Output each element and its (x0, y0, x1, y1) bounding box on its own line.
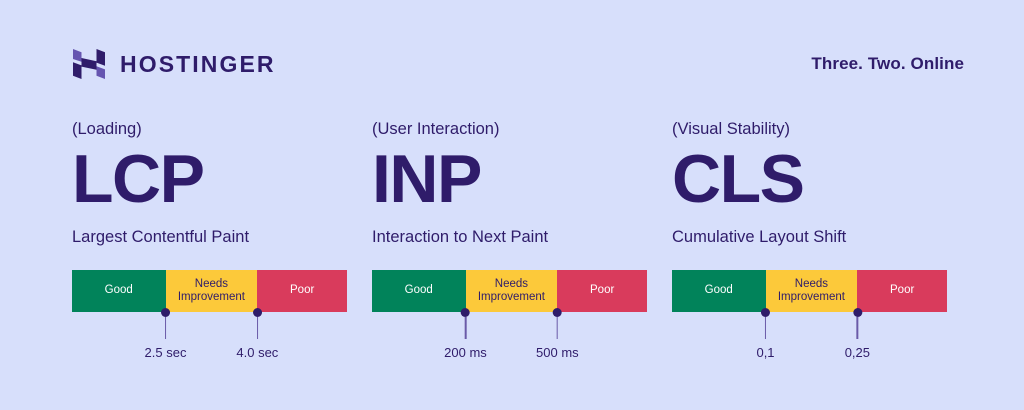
threshold-marker: 4.0 sec (236, 312, 278, 359)
threshold-marker: 500 ms (536, 312, 579, 359)
marker-dot-icon (161, 308, 170, 317)
marker-stem-icon (257, 317, 259, 339)
threshold-markers: 200 ms 500 ms (372, 312, 647, 372)
segment-needs-line1: Needs (795, 278, 828, 290)
marker-stem-icon (465, 317, 467, 339)
metric-fullname: Cumulative Layout Shift (672, 228, 972, 248)
threshold-bar: Good Needs Improvement Poor (372, 270, 647, 312)
segment-needs-line1: Needs (195, 278, 228, 290)
brand-lockup: HOSTINGER (72, 47, 276, 81)
threshold-marker: 0,1 (756, 312, 774, 359)
threshold-bar-wrapper: Good Needs Improvement Poor 200 ms (372, 270, 647, 312)
segment-needs-improvement: Needs Improvement (166, 270, 258, 312)
marker-label: 200 ms (444, 346, 487, 359)
metric-context: (User Interaction) (372, 120, 672, 142)
threshold-bar: Good Needs Improvement Poor (72, 270, 347, 312)
marker-stem-icon (165, 317, 167, 339)
segment-needs-line2: Improvement (778, 291, 845, 303)
segment-needs-line1: Needs (495, 278, 528, 290)
threshold-marker: 200 ms (444, 312, 487, 359)
marker-dot-icon (853, 308, 862, 317)
marker-dot-icon (461, 308, 470, 317)
marker-label: 0,25 (845, 346, 870, 359)
segment-good: Good (72, 270, 166, 312)
metric-card-inp: (User Interaction) INP Interaction to Ne… (372, 120, 672, 312)
tagline: Three. Two. Online (811, 54, 964, 74)
hostinger-h-logo-icon (72, 47, 106, 81)
segment-needs-improvement: Needs Improvement (766, 270, 858, 312)
segment-needs-improvement: Needs Improvement (466, 270, 558, 312)
segment-good: Good (672, 270, 766, 312)
page-header: HOSTINGER Three. Two. Online (72, 44, 964, 84)
threshold-markers: 2.5 sec 4.0 sec (72, 312, 347, 372)
marker-label: 0,1 (756, 346, 774, 359)
threshold-bar-wrapper: Good Needs Improvement Poor 0,1 (672, 270, 947, 312)
metric-context: (Visual Stability) (672, 120, 972, 142)
metric-acronym: CLS (672, 148, 972, 218)
marker-stem-icon (857, 317, 859, 339)
metrics-row: (Loading) LCP Largest Contentful Paint G… (72, 120, 972, 312)
marker-label: 500 ms (536, 346, 579, 359)
marker-label: 4.0 sec (236, 346, 278, 359)
marker-dot-icon (553, 308, 562, 317)
brand-name: HOSTINGER (120, 53, 276, 76)
metric-fullname: Largest Contentful Paint (72, 228, 372, 248)
segment-needs-line2: Improvement (478, 291, 545, 303)
segment-poor: Poor (557, 270, 647, 312)
metric-acronym: INP (372, 148, 672, 218)
threshold-marker: 2.5 sec (145, 312, 187, 359)
infographic-page: { "theme": { "background": "#d7dffb", "i… (0, 0, 1024, 410)
marker-stem-icon (765, 317, 767, 339)
metric-fullname: Interaction to Next Paint (372, 228, 672, 248)
marker-dot-icon (253, 308, 262, 317)
segment-poor: Poor (257, 270, 347, 312)
threshold-bar: Good Needs Improvement Poor (672, 270, 947, 312)
segment-poor: Poor (857, 270, 947, 312)
threshold-bar-wrapper: Good Needs Improvement Poor 2.5 sec (72, 270, 347, 312)
metric-context: (Loading) (72, 120, 372, 142)
threshold-marker: 0,25 (845, 312, 870, 359)
threshold-markers: 0,1 0,25 (672, 312, 947, 372)
marker-dot-icon (761, 308, 770, 317)
marker-label: 2.5 sec (145, 346, 187, 359)
segment-good: Good (372, 270, 466, 312)
marker-stem-icon (557, 317, 559, 339)
segment-needs-line2: Improvement (178, 291, 245, 303)
metric-card-lcp: (Loading) LCP Largest Contentful Paint G… (72, 120, 372, 312)
metric-card-cls: (Visual Stability) CLS Cumulative Layout… (672, 120, 972, 312)
metric-acronym: LCP (72, 148, 372, 218)
